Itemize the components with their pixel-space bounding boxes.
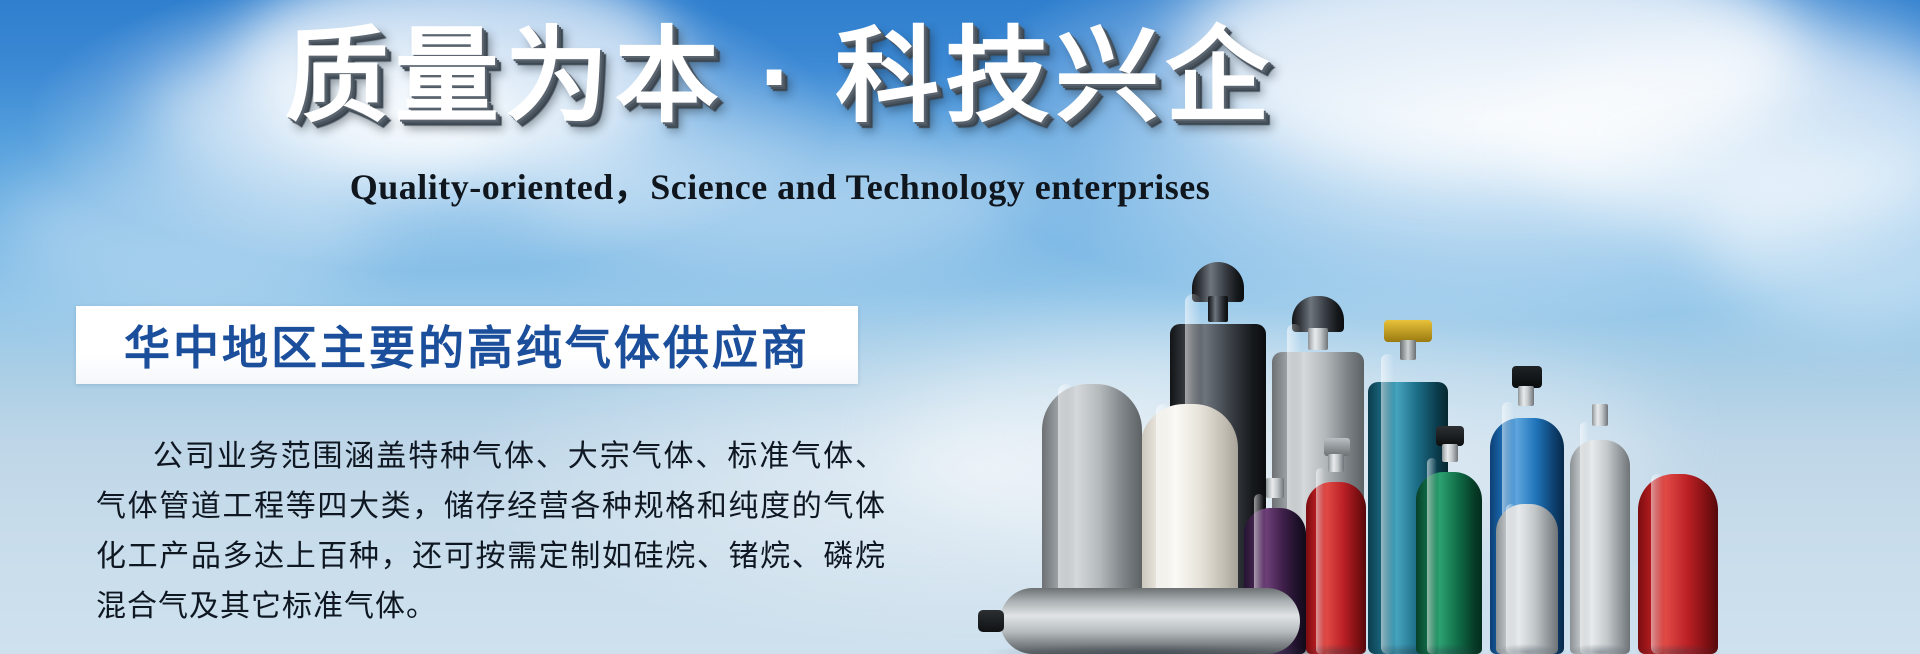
highlight-banner-text: 华中地区主要的高纯气体供应商 <box>76 306 858 384</box>
red-small-cylinder <box>1306 468 1366 654</box>
banner-headline: 质量为本 · 科技兴企 <box>285 16 1275 139</box>
promotional-banner: 质量为本 · 科技兴企 Quality-oriented，Science and… <box>0 0 1920 654</box>
silver-small-cylinder <box>1496 504 1558 654</box>
green-small-cylinder <box>1416 458 1482 654</box>
highlight-banner-box: 华中地区主要的高纯气体供应商 <box>76 306 858 384</box>
banner-description: 公司业务范围涵盖特种气体、大宗气体、标准气体、气体管道工程等四大类，储存经营各种… <box>96 432 886 632</box>
grey-horizontal-cylinder <box>1000 588 1300 654</box>
banner-description-text: 公司业务范围涵盖特种气体、大宗气体、标准气体、气体管道工程等四大类，储存经营各种… <box>96 440 886 623</box>
horizontal-cylinder-valve <box>978 610 1004 632</box>
gas-cylinder-group <box>1160 150 1920 654</box>
red-large-cylinder <box>1638 474 1718 654</box>
silver-slim-cylinder <box>1570 422 1630 654</box>
headline-container: 质量为本 · 科技兴企 <box>0 16 1560 139</box>
